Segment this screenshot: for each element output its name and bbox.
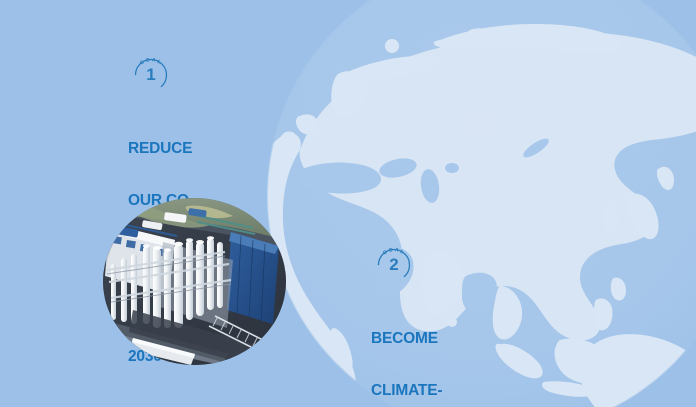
goal-2-badge: GOAL 2 (371, 240, 417, 286)
goal-2-line-2: CLIMATE- (371, 382, 470, 399)
goal-2-text: BECOME CLIMATE- NEUTRAL IN OUR OWN OPERA… (371, 295, 470, 407)
goal-2-block: GOAL 2 BECOME CLIMATE- NEUTRAL IN OUR OW… (371, 240, 470, 407)
goal-2-line-1: BECOME (371, 330, 470, 347)
globe-illustration (0, 0, 696, 407)
globe-landmasses (248, 24, 696, 407)
infographic-canvas: GOAL 1 REDUCE OUR CO2 EMISSIONS BY 50% B… (0, 0, 696, 407)
goal-1-line-1: REDUCE (128, 140, 212, 157)
goal-1-badge: GOAL 1 (128, 50, 174, 96)
globe-sphere (267, 0, 696, 407)
plant-photo (103, 198, 286, 365)
goal-2-number: 2 (371, 240, 417, 286)
goal-1-number: 1 (128, 50, 174, 96)
